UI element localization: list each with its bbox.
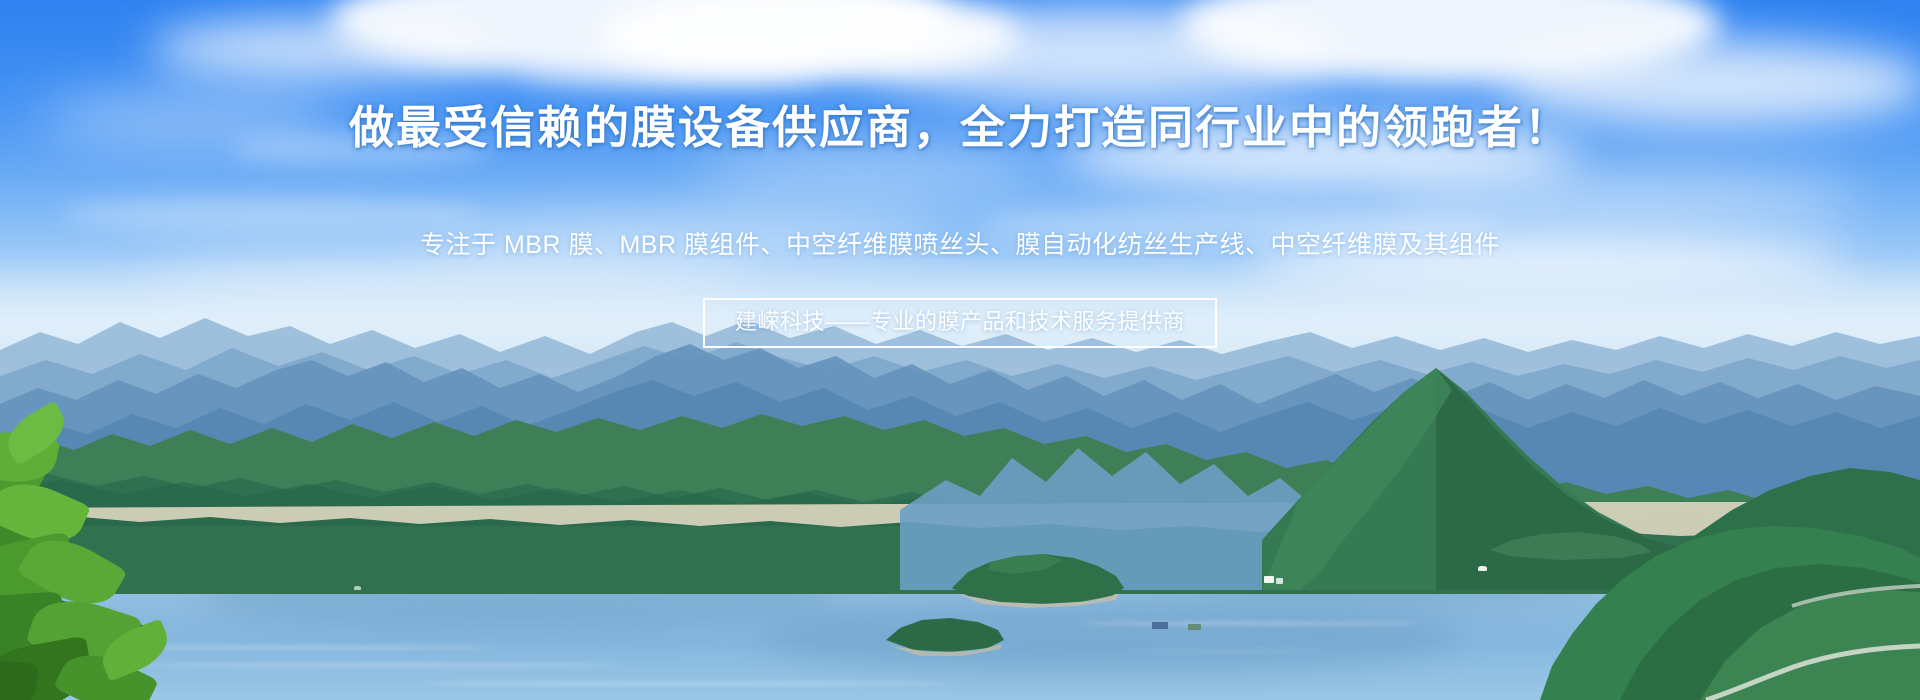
cloud-shape <box>520 60 820 90</box>
lakeside-building <box>1188 624 1201 630</box>
foreground-tree <box>0 432 260 700</box>
hero-banner: 做最受信赖的膜设备供应商，全力打造同行业中的领跑者！ 专注于 MBR 膜、MBR… <box>0 0 1920 700</box>
cloud-shape <box>60 196 480 232</box>
lakeside-building <box>1264 576 1274 583</box>
hero-tagline-wrapper: 建嵘科技——专业的膜产品和技术服务提供商 <box>0 298 1920 348</box>
cloud-shape <box>690 150 1050 190</box>
hero-headline: 做最受信赖的膜设备供应商，全力打造同行业中的领跑者！ <box>0 100 1920 156</box>
lake-island-small <box>0 606 1920 658</box>
boat-on-lake <box>354 586 361 590</box>
lakeside-building <box>1152 622 1168 629</box>
hero-subheadline: 专注于 MBR 膜、MBR 膜组件、中空纤维膜喷丝头、膜自动化纺丝生产线、中空纤… <box>0 228 1920 262</box>
boat-on-lake <box>1478 566 1487 571</box>
lakeside-building <box>1276 578 1283 584</box>
cloud-shape <box>150 20 490 78</box>
hero-tagline-box: 建嵘科技——专业的膜产品和技术服务提供商 <box>703 298 1217 348</box>
